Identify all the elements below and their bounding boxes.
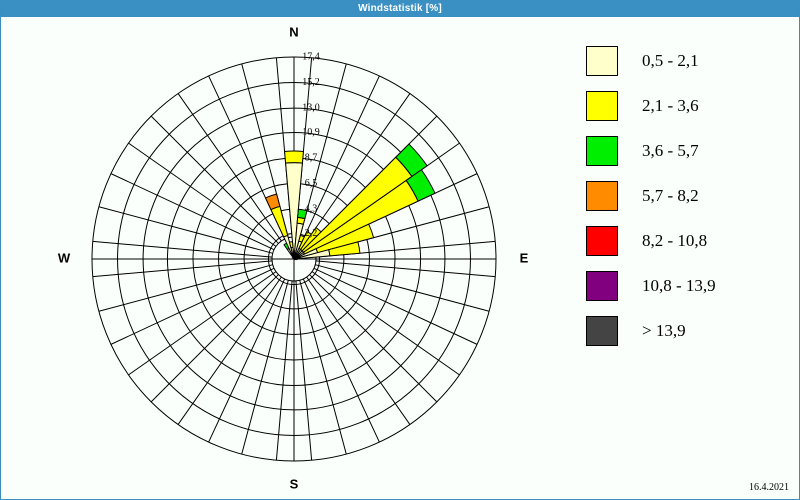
legend-label: 10,8 - 13,9 [642, 276, 716, 296]
radial-tick-label: 15,2 [302, 77, 320, 88]
grid-spoke [151, 275, 278, 402]
compass-label-north: N [289, 24, 298, 39]
radial-tick-label: 2,2 [305, 228, 318, 239]
radial-tick-label: 6,5 [305, 178, 318, 189]
legend-row: 5,7 - 8,2 [577, 173, 792, 218]
legend: 0,5 - 2,12,1 - 3,63,6 - 5,75,7 - 8,28,2 … [577, 38, 792, 353]
radial-tick-label: 10,9 [302, 127, 320, 138]
legend-color-swatch [586, 316, 618, 346]
window-title: Windstatistik [%] [358, 3, 442, 14]
grid-spoke [303, 279, 379, 442]
window-body: 2,24,36,58,710,913,015,217,4 NESW 0,5 - … [1, 18, 799, 499]
legend-color-swatch [586, 46, 618, 76]
legend-row: 2,1 - 3,6 [577, 83, 792, 128]
legend-color-swatch [586, 91, 618, 121]
windrose-petal-segment [266, 194, 280, 210]
date-stamp: 16.4.2021 [749, 482, 789, 493]
grid-spoke [99, 265, 273, 312]
grid-spoke [300, 280, 347, 454]
legend-color-swatch [586, 226, 618, 256]
legend-row: 3,6 - 5,7 [577, 128, 792, 173]
legend-label: 0,5 - 2,1 [642, 51, 699, 71]
windrose-petal-layer [266, 144, 435, 260]
grid-spoke [151, 116, 278, 243]
grid-spoke [209, 279, 285, 442]
grid-spoke [242, 280, 289, 454]
legend-row: 0,5 - 2,1 [577, 38, 792, 83]
compass-label-south: S [290, 476, 299, 491]
radial-tick-label: 13,0 [302, 102, 320, 113]
grid-spoke [111, 268, 274, 344]
compass-label-east: E [520, 250, 529, 265]
legend-label: 5,7 - 8,2 [642, 186, 699, 206]
legend-row: 10,8 - 13,9 [577, 263, 792, 308]
windrose-svg: 2,24,36,58,710,913,015,217,4 NESW [1, 18, 566, 500]
legend-color-swatch [586, 136, 618, 166]
grid-spoke [314, 268, 477, 344]
legend-label: 3,6 - 5,7 [642, 141, 699, 161]
legend-label: 2,1 - 3,6 [642, 96, 699, 116]
window-titlebar: Windstatistik [%] [1, 1, 799, 17]
windstatistik-window: Windstatistik [%] 2,24,36,58,710,913,015… [0, 0, 800, 500]
grid-spoke [99, 207, 273, 254]
radial-tick-label: 17,4 [302, 51, 320, 62]
radial-tick-label: 4,3 [305, 203, 318, 214]
compass-label-west: W [58, 250, 71, 265]
legend-color-swatch [586, 271, 618, 301]
windrose-petal-segment [285, 151, 304, 163]
grid-spoke [111, 174, 274, 250]
legend-label: 8,2 - 10,8 [642, 231, 707, 251]
legend-color-swatch [586, 181, 618, 211]
legend-row: > 13,9 [577, 308, 792, 353]
legend-label: > 13,9 [642, 321, 686, 341]
legend-row: 8,2 - 10,8 [577, 218, 792, 263]
windrose-petal-segment [271, 206, 288, 237]
radial-tick-label: 8,7 [305, 152, 318, 163]
grid-spoke [315, 265, 489, 312]
grid-spoke [310, 275, 437, 402]
windrose-chart: 2,24,36,58,710,913,015,217,4 NESW [1, 18, 566, 500]
